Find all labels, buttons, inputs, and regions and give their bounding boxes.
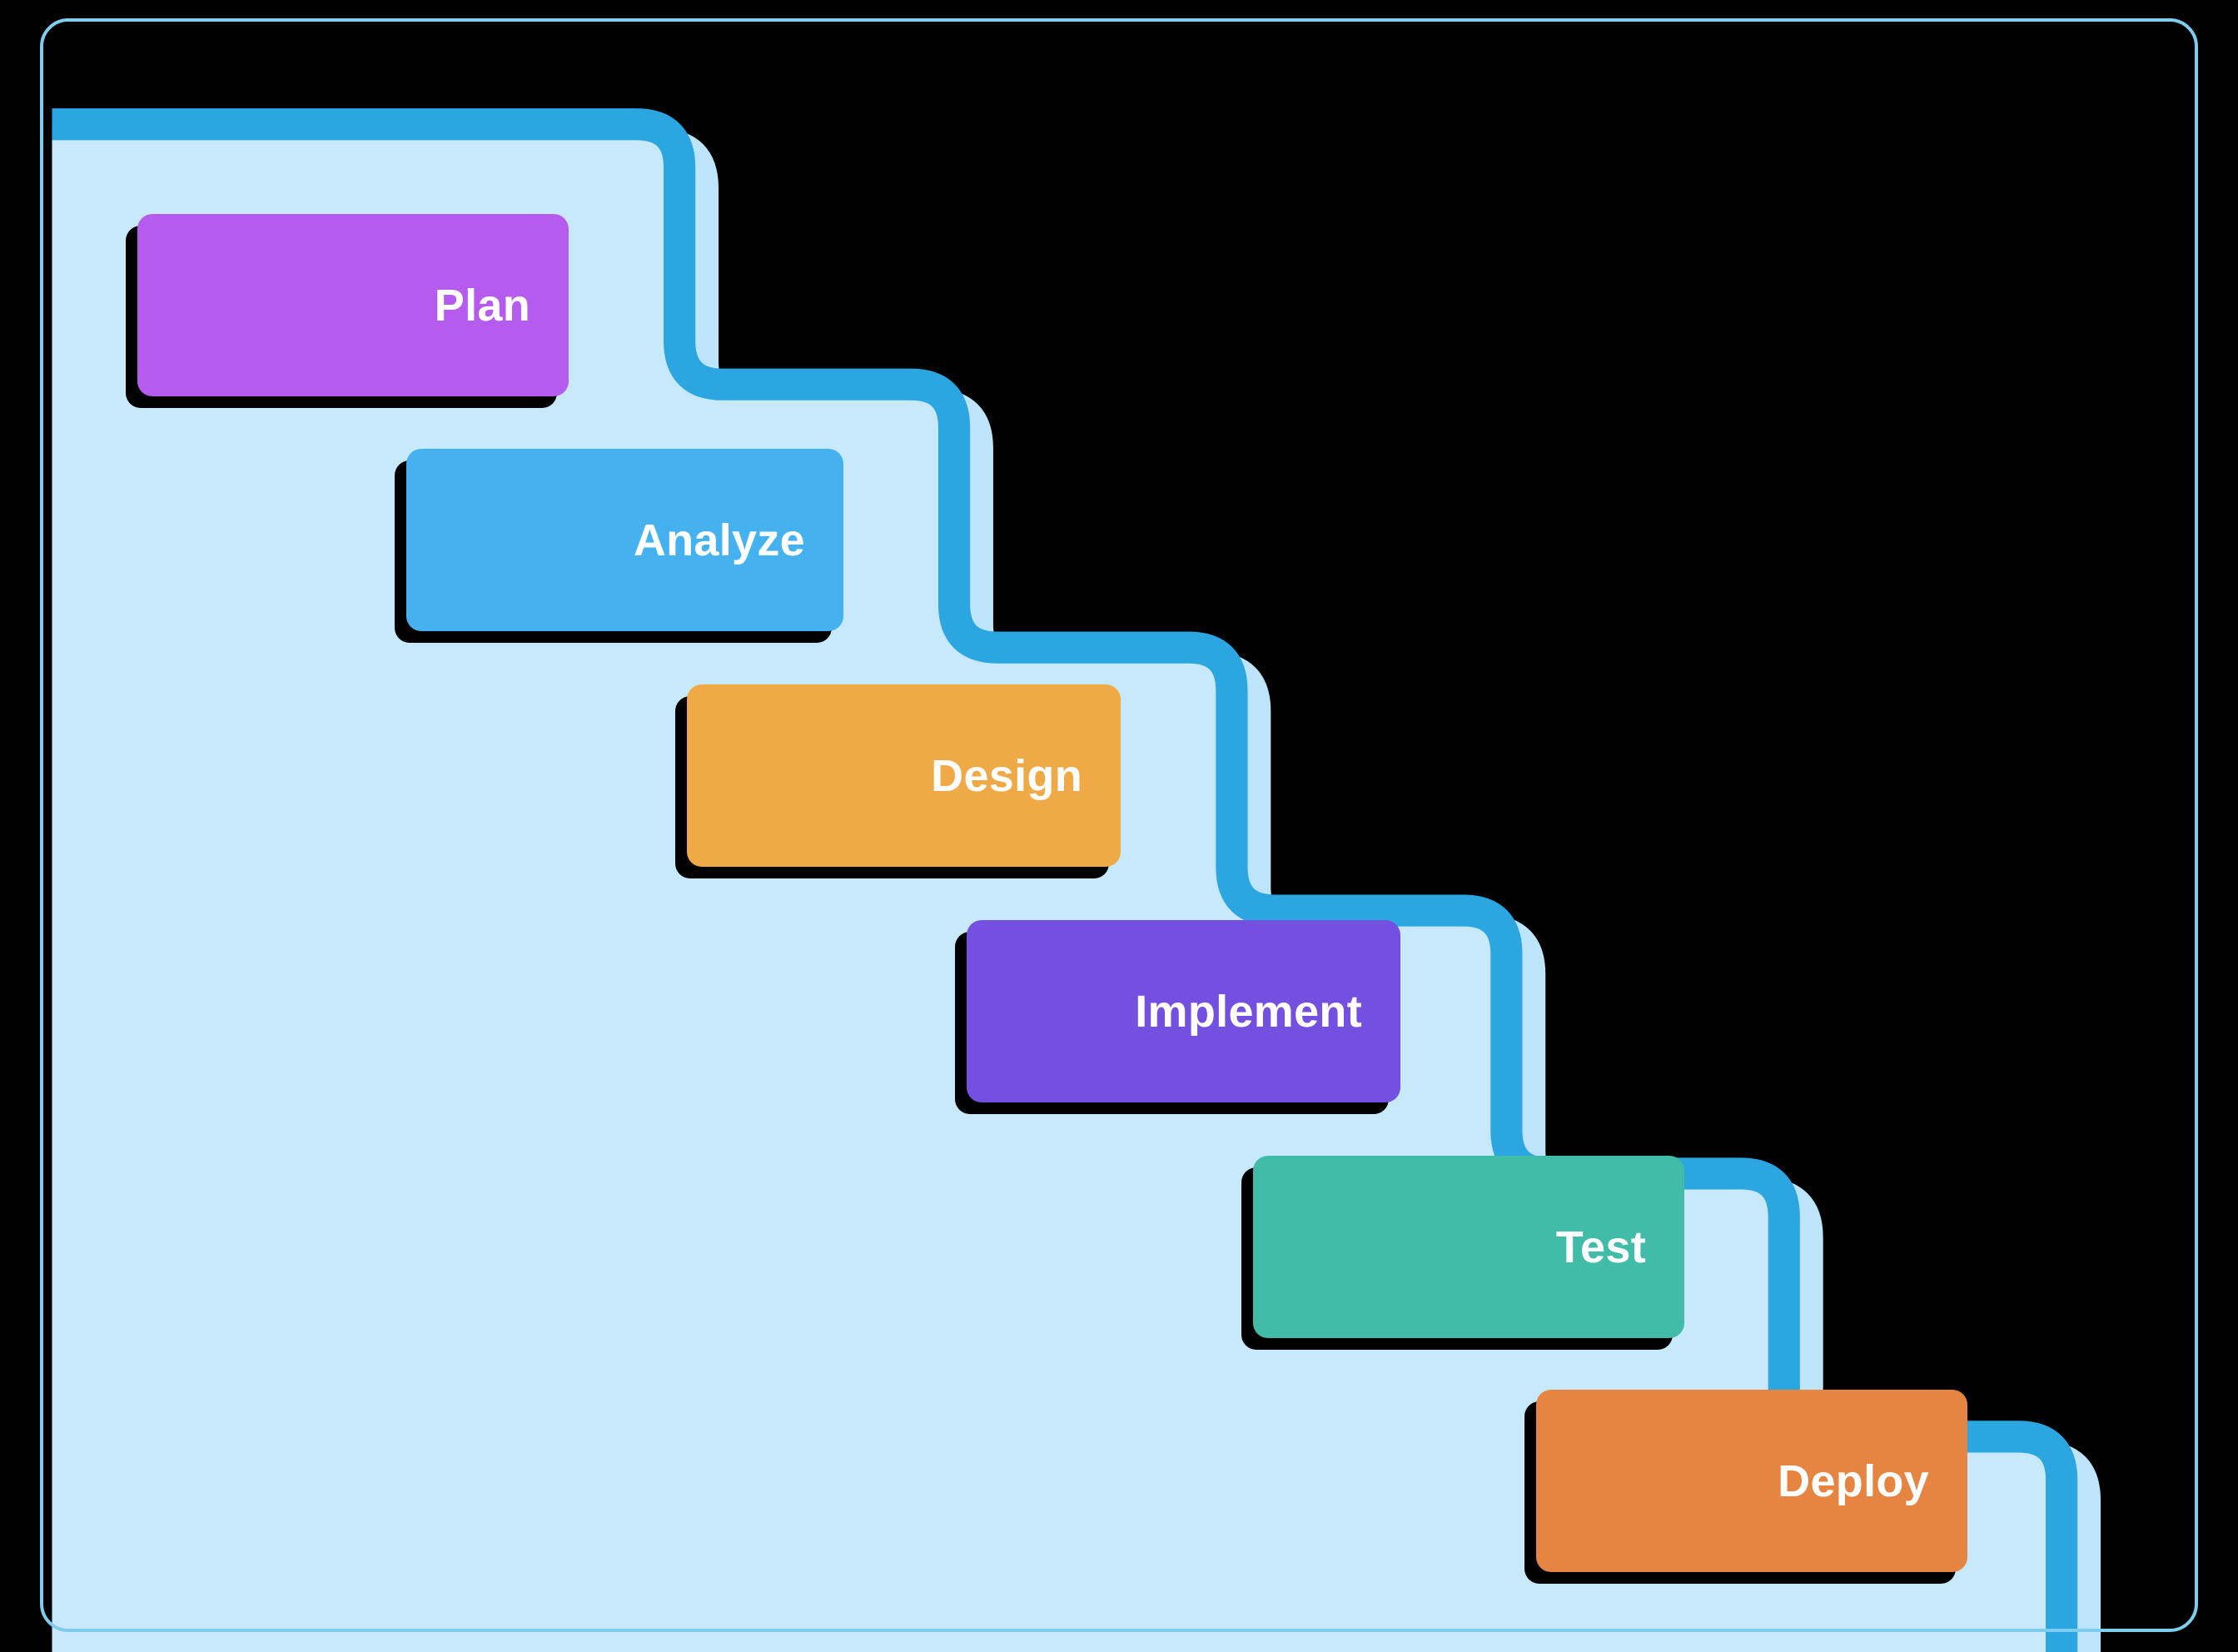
step-box-deploy[interactable]: Deploy: [1536, 1390, 1967, 1572]
step-box-plan[interactable]: Plan: [137, 214, 569, 396]
step-box-implement[interactable]: Implement: [967, 920, 1400, 1102]
step-label-implement: Implement: [1135, 989, 1362, 1034]
step-label-test: Test: [1556, 1225, 1646, 1270]
step-box-test[interactable]: Test: [1253, 1156, 1684, 1338]
step-label-plan: Plan: [435, 283, 530, 328]
diagram-canvas: Plan Analyze Design Implement Test Deplo…: [0, 0, 2238, 1652]
step-label-analyze: Analyze: [634, 518, 805, 563]
step-box-design[interactable]: Design: [687, 684, 1121, 867]
step-label-design: Design: [931, 754, 1082, 799]
step-box-analyze[interactable]: Analyze: [406, 449, 843, 631]
step-label-deploy: Deploy: [1778, 1459, 1929, 1504]
